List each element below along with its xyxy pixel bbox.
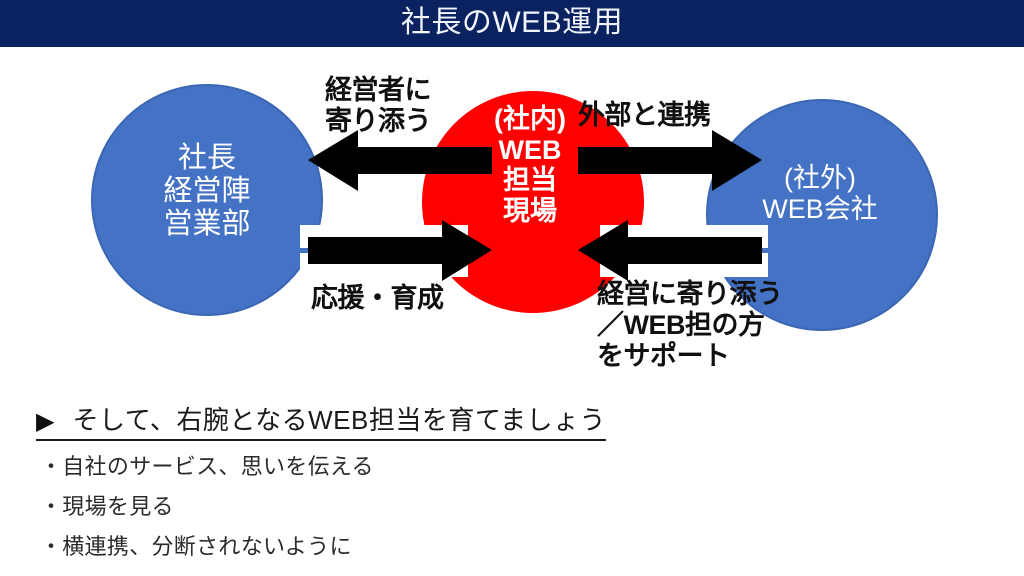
triangle-right-icon: ▶	[36, 410, 54, 434]
page-title: 社長のWEB運用	[0, 0, 1024, 47]
left-circle-shape	[92, 85, 322, 315]
list-item: ・自社のサービス、思いを伝える	[40, 449, 374, 481]
list-item: ・横連携、分断されないように	[40, 529, 352, 561]
diagram-canvas: 社長 経営陣 営業部 (社内) WEB 担当 現場 (社外) WEB会社 経営者…	[0, 47, 1024, 392]
bullet-section: ▶ そして、右腕となるWEB担当を育てましょう ・自社のサービス、思いを伝える …	[0, 392, 1024, 576]
bullet-heading-text: そして、右腕となるWEB担当を育てましょう	[72, 400, 606, 437]
arrow-caption-top-right: 外部と連携	[578, 100, 798, 131]
arrow-caption-bottom-right: 経営に寄り添う ／WEB担の方 をサポート	[597, 279, 827, 371]
arrow-caption-bottom-left: 応援・育成	[311, 283, 521, 314]
slide-header-bar: 社長のWEB運用	[0, 0, 1024, 47]
arrow-caption-top-left: 経営者に 寄り添う	[325, 75, 525, 137]
list-item: ・現場を見る	[40, 489, 174, 521]
bullet-heading: ▶ そして、右腕となるWEB担当を育てましょう	[36, 400, 606, 441]
